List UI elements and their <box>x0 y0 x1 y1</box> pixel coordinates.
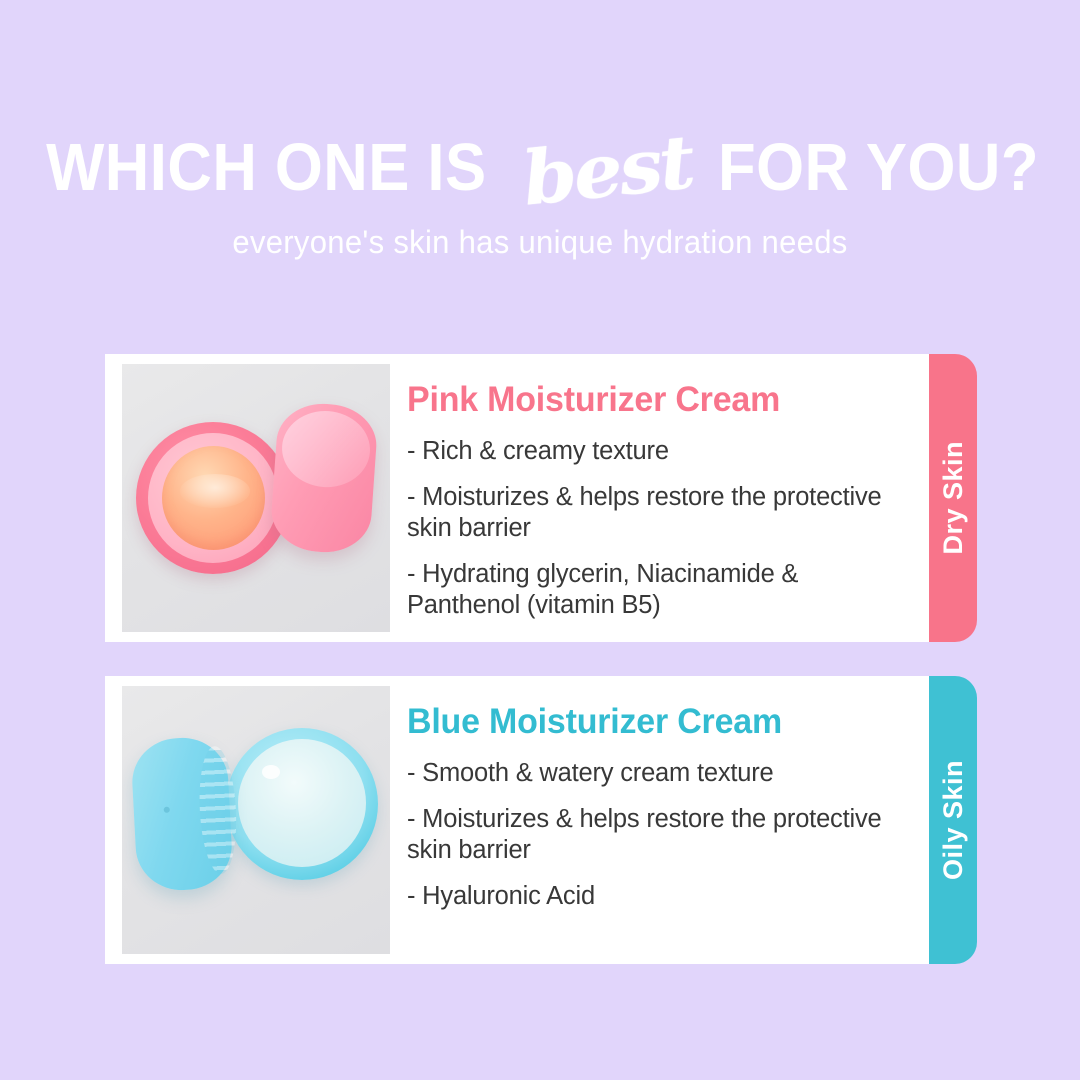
blue-cream-surface-icon <box>238 739 366 867</box>
product-bullet: - Moisturizes & helps restore the protec… <box>407 804 909 866</box>
pink-jar-lid-icon <box>269 401 379 556</box>
page-subtitle: everyone's skin has unique hydration nee… <box>16 224 1064 261</box>
header: WHICH ONE IS best FOR YOU? everyone's sk… <box>0 0 1080 261</box>
product-card-pink[interactable]: Pink Moisturizer Cream - Rich & creamy t… <box>105 354 929 642</box>
pink-cream-swirl-icon <box>180 474 250 508</box>
product-photo-pink <box>122 364 390 632</box>
product-bullet: - Hydrating glycerin, Niacinamide & Pant… <box>407 559 909 621</box>
product-title-pink: Pink Moisturizer Cream <box>407 380 894 420</box>
headline-part-1: WHICH ONE IS <box>46 134 486 201</box>
blue-jar-body-icon <box>226 728 378 880</box>
product-details-blue: Blue Moisturizer Cream - Smooth & watery… <box>390 676 929 964</box>
product-photo-blue <box>122 686 390 954</box>
pink-jar-base-icon <box>136 422 290 574</box>
product-card-list: Pink Moisturizer Cream - Rich & creamy t… <box>105 354 977 998</box>
pink-cream-surface-icon <box>162 446 265 550</box>
pink-jar-inner-rim-icon <box>148 433 278 563</box>
blue-jar-lid-dot-icon <box>164 807 170 813</box>
product-card-blue[interactable]: Blue Moisturizer Cream - Smooth & watery… <box>105 676 929 964</box>
blue-jar-lid-icon <box>130 736 234 893</box>
page-title: WHICH ONE IS best FOR YOU? <box>0 128 1080 202</box>
skin-type-tab-oily[interactable]: Oily Skin <box>929 676 977 964</box>
product-bullet: - Moisturizes & helps restore the protec… <box>407 482 909 544</box>
blue-cream-bubble-icon <box>262 765 280 779</box>
skin-type-tab-dry[interactable]: Dry Skin <box>929 354 977 642</box>
headline-part-2: FOR YOU? <box>718 134 1039 201</box>
pink-jar-lid-highlight-icon <box>279 408 372 490</box>
product-details-pink: Pink Moisturizer Cream - Rich & creamy t… <box>390 354 929 642</box>
product-bullet: - Smooth & watery cream texture <box>407 758 909 789</box>
product-bullet: - Rich & creamy texture <box>407 436 909 467</box>
product-bullet: - Hyaluronic Acid <box>407 881 909 912</box>
headline-script-word: best <box>519 125 695 216</box>
product-title-blue: Blue Moisturizer Cream <box>407 702 894 742</box>
skin-type-tab-label: Dry Skin <box>938 441 969 555</box>
blue-jar-lid-threads-icon <box>197 745 240 875</box>
skin-type-tab-label: Oily Skin <box>938 760 969 880</box>
